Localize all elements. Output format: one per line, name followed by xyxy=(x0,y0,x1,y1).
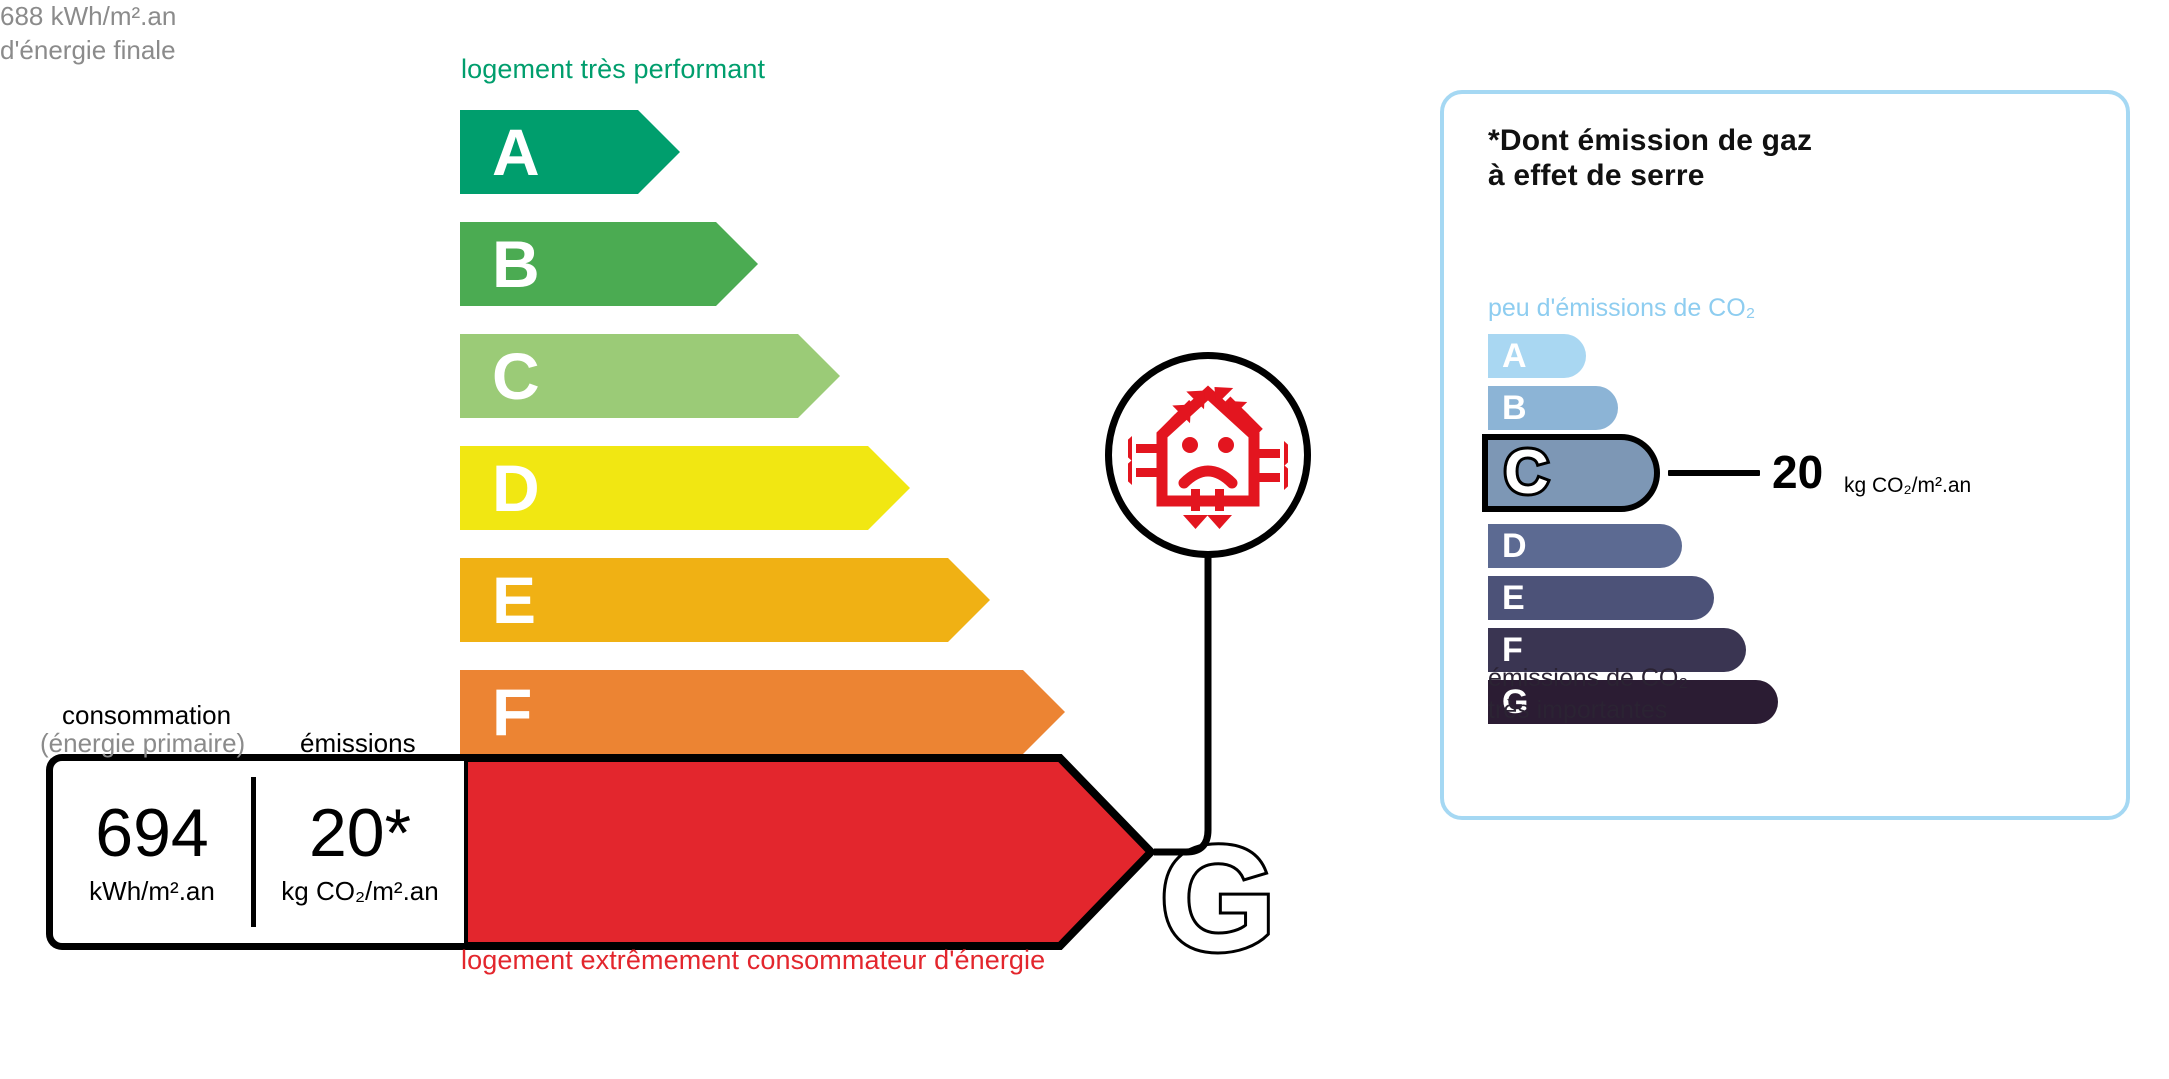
co2-emissions-panel: *Dont émission de gaz à effet de serre p… xyxy=(1440,90,2130,820)
consumption-value-cell: 694 kWh/m².an xyxy=(53,761,251,943)
consumption-unit: kWh/m².an xyxy=(89,877,215,906)
energy-bar-c-letter: C xyxy=(492,343,540,409)
co2-title-line1: *Dont émission de gaz xyxy=(1488,124,1812,159)
co2-unit: kg CO₂/m².an xyxy=(1844,475,1971,496)
energy-bar-f-letter: F xyxy=(492,679,532,745)
co2-panel-title: *Dont émission de gaz à effet de serre xyxy=(1488,124,1812,194)
emissions-caption: émissions xyxy=(300,728,416,760)
energy-bar-b-letter: B xyxy=(492,231,540,297)
energy-bar-row-a: A xyxy=(460,110,680,194)
energy-bar-g-shape xyxy=(460,754,1155,950)
co2-title-line2: à effet de serre xyxy=(1488,159,1812,194)
energy-bar-row-c: C xyxy=(460,334,840,418)
energy-bar-e-letter: E xyxy=(492,567,536,633)
energy-value-box: 694 kWh/m².an 20* kg CO₂/m².an xyxy=(46,754,464,950)
energy-bar-row-f: F xyxy=(460,670,1065,754)
energy-bar-row-d: D xyxy=(460,446,910,530)
co2-value: 20 xyxy=(1772,449,1823,495)
co2-bottom-caption: émissions de CO₂ très importantes xyxy=(1488,662,1688,726)
energy-bar-row-e: E xyxy=(460,558,990,642)
co2-bar-row-e: E xyxy=(1488,576,1714,620)
co2-leader-line xyxy=(1668,470,1760,476)
emissions-value: 20* xyxy=(309,799,411,867)
consumption-value: 694 xyxy=(95,799,208,867)
co2-bar-d-letter: D xyxy=(1502,529,1527,563)
co2-bottom-caption-line1: émissions de CO₂ xyxy=(1488,662,1688,694)
co2-bar-c-letter: C xyxy=(1504,442,1549,504)
co2-bar-row-c: C xyxy=(1482,434,1660,512)
energy-bar-e-shape xyxy=(460,558,990,642)
consumption-caption: consommation xyxy=(62,700,231,732)
energy-bar-row-b: B xyxy=(460,222,758,306)
consumption-subcaption: (énergie primaire) xyxy=(40,728,245,760)
co2-top-caption: peu d'émissions de CO₂ xyxy=(1488,294,1755,323)
co2-bottom-caption-line2: très importantes xyxy=(1488,694,1688,726)
co2-bar-e-letter: E xyxy=(1502,581,1525,615)
co2-bar-a-letter: A xyxy=(1502,339,1527,373)
emissions-unit: kg CO₂/m².an xyxy=(281,877,438,906)
co2-bar-b-letter: B xyxy=(1502,391,1527,425)
energy-bar-f-shape xyxy=(460,670,1065,754)
dpe-diagram: logement très performant ABCDEF G 694 kW… xyxy=(0,0,2169,1079)
energy-bar-d-letter: D xyxy=(492,455,540,521)
final-energy-line1: 688 kWh/m².an xyxy=(0,0,1340,34)
energy-bottom-caption: logement extrêmement consommateur d'éner… xyxy=(461,945,1045,976)
energy-consumption-chart: logement très performant ABCDEF G 694 kW… xyxy=(0,0,1340,1079)
sad-house-energy-loss-icon xyxy=(1105,352,1311,558)
energy-bar-a-letter: A xyxy=(492,119,540,185)
energy-top-caption: logement très performant xyxy=(461,54,765,85)
emissions-value-cell: 20* kg CO₂/m².an xyxy=(256,761,464,943)
co2-bar-row-b: B xyxy=(1488,386,1618,430)
co2-bar-row-d: D xyxy=(1488,524,1682,568)
badge-connector-line xyxy=(1130,540,1350,880)
co2-bar-row-a: A xyxy=(1488,334,1586,378)
